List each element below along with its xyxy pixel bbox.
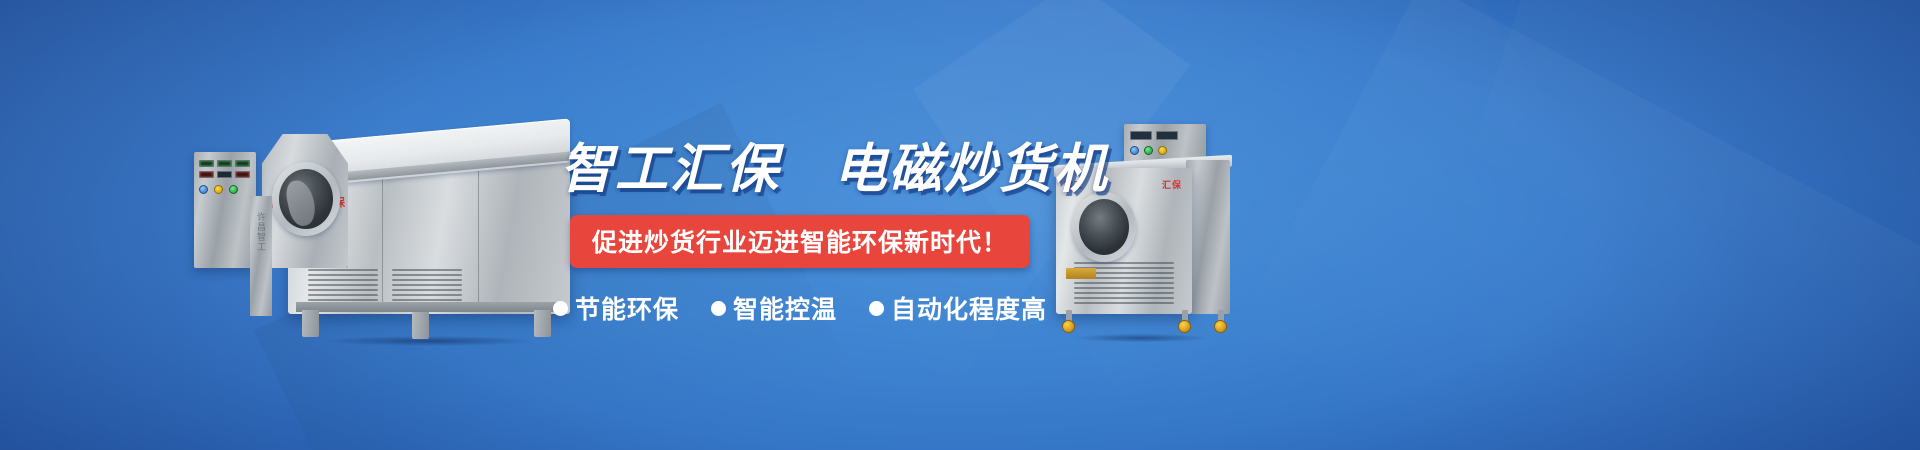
headline-product: 电磁炒货机 xyxy=(833,140,1108,199)
feature-bullet-label: 自动化程度高 xyxy=(891,290,1047,326)
feature-bullet-label: 节能环保 xyxy=(575,290,679,326)
product-image-roaster-large: 智工 汇保 xyxy=(176,104,572,350)
control-knob-row xyxy=(199,185,251,194)
bullet-dot-icon xyxy=(711,301,726,316)
machine-side-column: 许昌智工 xyxy=(250,196,272,316)
machine-casters xyxy=(1058,310,1228,336)
feature-bullet-list: 节能环保 智能控温 自动化程度高 xyxy=(560,290,1040,326)
feature-bullet-item: 自动化程度高 xyxy=(869,290,1047,326)
digital-display xyxy=(217,160,232,167)
display-row-bottom xyxy=(199,171,251,178)
promo-banner: 智工 汇保 xyxy=(0,0,1920,450)
control-panel-face xyxy=(1130,131,1200,157)
machine-side-cabinet xyxy=(1186,160,1230,314)
feature-bullet-item: 节能环保 xyxy=(553,290,679,326)
switch-icon xyxy=(199,185,208,194)
caster-wheel-icon xyxy=(1178,320,1191,333)
feature-bullet-label: 智能控温 xyxy=(733,290,837,326)
headline-brand: 智工汇保 xyxy=(560,140,780,199)
caster-wheel-icon xyxy=(1062,320,1075,333)
power-indicator-icon xyxy=(229,185,238,194)
digital-display xyxy=(235,160,250,167)
control-panel-face xyxy=(199,160,251,216)
digital-display xyxy=(199,171,214,178)
banner-headline: 智工汇保 电磁炒货机 xyxy=(560,96,1040,197)
machine-control-panel xyxy=(194,152,256,268)
banner-badge-wrap: 促进炒货行业迈进智能环保新时代！ xyxy=(560,215,1040,268)
machine-drum-opening xyxy=(1072,192,1136,262)
brand-mark-right: 汇保 xyxy=(1162,178,1182,191)
vent-grille xyxy=(392,269,462,306)
banner-slogan-badge: 促进炒货行业迈进智能环保新时代！ xyxy=(570,215,1030,268)
digital-display xyxy=(199,160,214,167)
digital-display xyxy=(217,171,232,178)
bullet-dot-icon xyxy=(869,301,884,316)
digital-display xyxy=(1130,131,1152,140)
emergency-knob-icon xyxy=(214,185,223,194)
caster-wheel-icon xyxy=(1214,320,1227,333)
display-row-top xyxy=(199,160,251,167)
power-indicator-icon xyxy=(1144,146,1153,155)
switch-icon xyxy=(1130,146,1139,155)
machine-side-text: 许昌智工 xyxy=(255,212,268,252)
digital-display xyxy=(235,171,250,178)
vent-grille xyxy=(308,269,378,306)
emergency-knob-icon xyxy=(1158,146,1167,155)
machine-nameplate xyxy=(1066,268,1096,279)
machine-legs xyxy=(296,310,564,340)
digital-display xyxy=(1156,131,1178,140)
bullet-dot-icon xyxy=(553,301,568,316)
banner-copy: 智工汇保 电磁炒货机 促进炒货行业迈进智能环保新时代！ 节能环保 智能控温 自动… xyxy=(560,96,1040,326)
feature-bullet-item: 智能控温 xyxy=(711,290,837,326)
